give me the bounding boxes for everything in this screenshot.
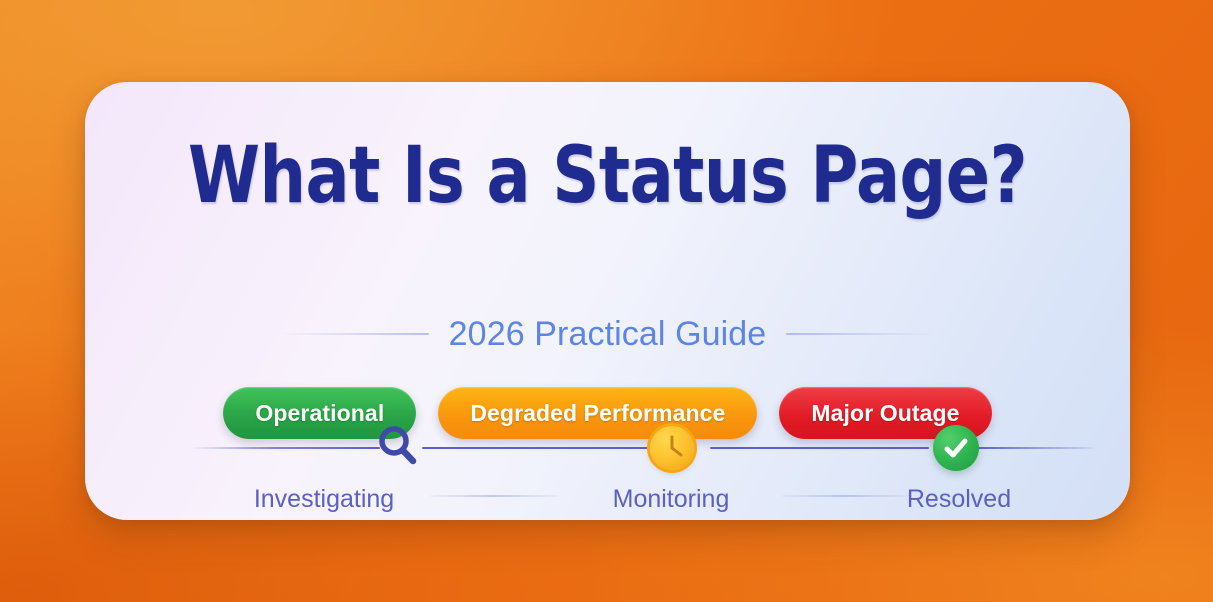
- page-title: What Is a Status Page?: [122, 134, 1094, 218]
- label-connector-1: [430, 495, 558, 497]
- timeline-label-investigating: Investigating: [220, 485, 428, 514]
- timeline-node-monitoring[interactable]: [648, 424, 696, 472]
- subtitle-rule-left: [281, 333, 429, 335]
- clock-icon: [650, 426, 694, 470]
- magnifying-glass-icon: [375, 423, 421, 474]
- timeline-label-resolved: Resolved: [855, 485, 1063, 514]
- timeline-rail-segment-1: [190, 447, 380, 449]
- check-circle-icon: [933, 425, 979, 471]
- timeline-node-investigating[interactable]: [374, 424, 422, 472]
- timeline-rail-segment-2: [422, 447, 671, 449]
- timeline-node-resolved[interactable]: [932, 424, 980, 472]
- incident-lifecycle-timeline: Investigating Monitoring Resolved: [190, 397, 1025, 515]
- status-page-info-card: What Is a Status Page? 2026 Practical Gu…: [85, 82, 1130, 520]
- page-subtitle: 2026 Practical Guide: [449, 315, 767, 354]
- timeline-rail-segment-3: [710, 447, 929, 449]
- subtitle-row: 2026 Practical Guide: [85, 310, 1130, 358]
- timeline-rail-segment-4: [975, 447, 1097, 449]
- timeline-label-monitoring: Monitoring: [567, 485, 775, 514]
- subtitle-rule-right: [786, 333, 934, 335]
